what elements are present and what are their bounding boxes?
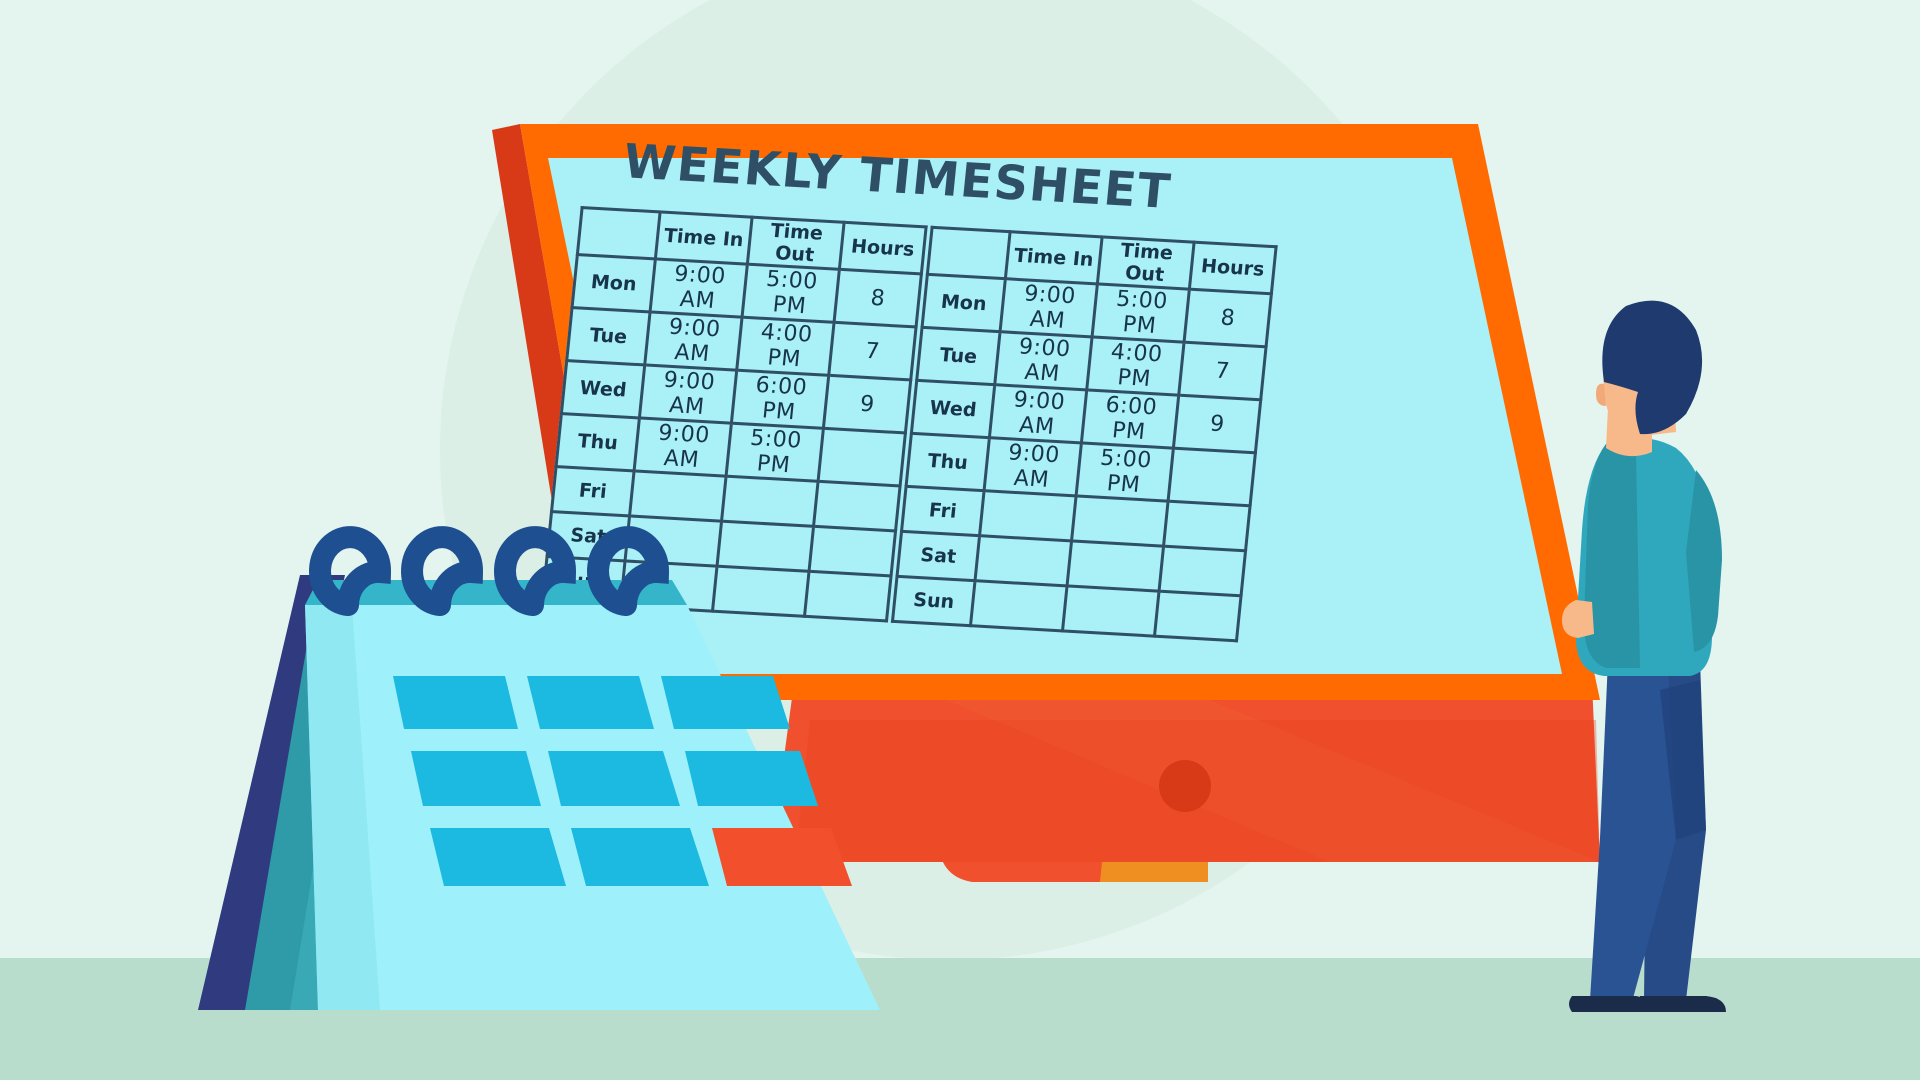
person-shoe-back [1640,996,1726,1012]
person-hand [1562,600,1594,638]
person-shoe-front [1569,996,1650,1012]
illustration-canvas: WEEKLY TIMESHEET Time In Time Out Hours … [0,0,1920,1080]
standing-person [0,0,1920,1080]
